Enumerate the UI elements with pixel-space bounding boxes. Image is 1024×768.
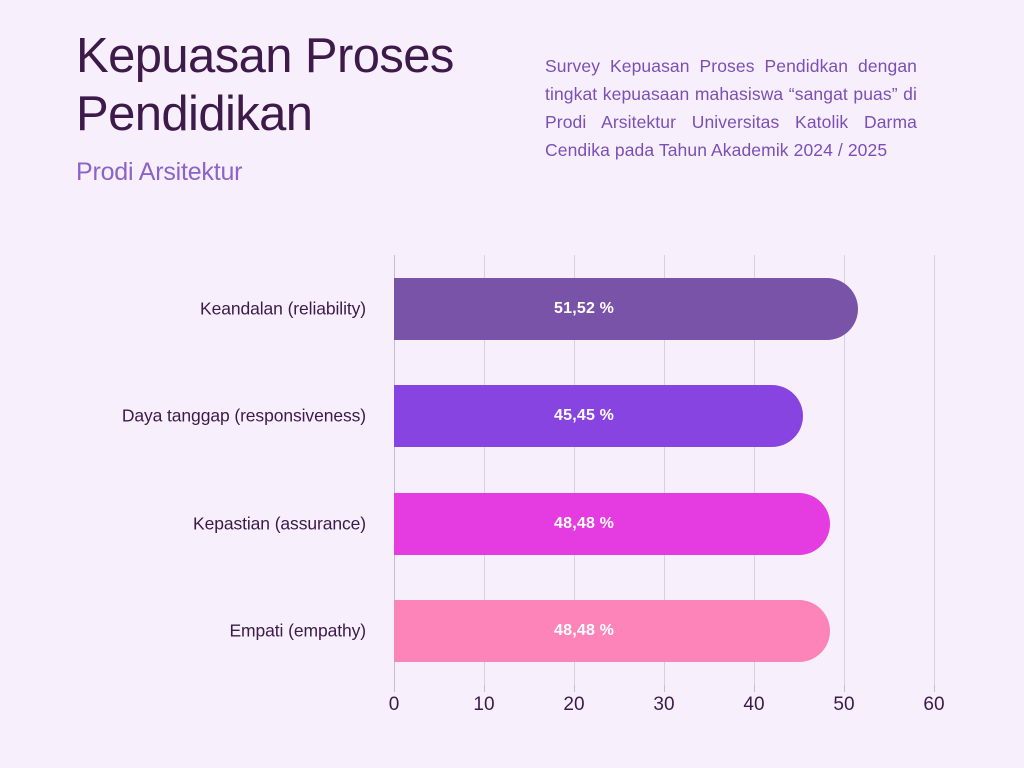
bar-value-label: 45,45 % xyxy=(554,407,614,425)
bar[interactable]: 48,48 % xyxy=(394,600,830,662)
title-block: Kepuasan Proses Pendidikan Prodi Arsitek… xyxy=(76,28,536,187)
category-label: Keandalan (reliability) xyxy=(36,298,366,319)
value-axis: 0102030405060 xyxy=(394,685,934,725)
x-tick-label: 0 xyxy=(389,694,400,716)
category-axis-labels: Keandalan (reliability)Daya tanggap (res… xyxy=(40,255,380,685)
x-tick-mark-40 xyxy=(754,685,755,692)
category-label: Kepastian (assurance) xyxy=(36,513,366,534)
bar-series: 51,52 %45,45 %48,48 %48,48 % xyxy=(394,255,934,685)
bar-chart: Keandalan (reliability)Daya tanggap (res… xyxy=(0,230,1024,768)
x-tick-mark-20 xyxy=(574,685,575,692)
plot-area: 51,52 %45,45 %48,48 %48,48 % xyxy=(394,255,934,685)
x-tick-label: 30 xyxy=(653,694,674,716)
x-tick-label: 40 xyxy=(743,694,764,716)
x-tick-mark-60 xyxy=(934,685,935,692)
x-tick-label: 10 xyxy=(473,694,494,716)
page-title: Kepuasan Proses Pendidikan xyxy=(76,28,536,144)
x-tick-mark-10 xyxy=(484,685,485,692)
x-tick-label: 20 xyxy=(563,694,584,716)
bar[interactable]: 45,45 % xyxy=(394,385,803,447)
page-subtitle: Prodi Arsitektur xyxy=(76,158,536,187)
bar-value-label: 48,48 % xyxy=(554,515,614,533)
x-tick-mark-30 xyxy=(664,685,665,692)
x-tick-label: 60 xyxy=(923,694,944,716)
category-label: Daya tanggap (responsiveness) xyxy=(36,406,366,427)
x-tick-label: 50 xyxy=(833,694,854,716)
survey-description: Survey Kepuasan Proses Pendidkan dengan … xyxy=(545,52,917,164)
header: Kepuasan Proses Pendidikan Prodi Arsitek… xyxy=(0,0,1024,230)
gridline-60 xyxy=(934,255,935,685)
category-label: Empati (empathy) xyxy=(36,621,366,642)
x-tick-mark-0 xyxy=(394,685,395,692)
bar-value-label: 51,52 % xyxy=(554,300,614,318)
description-block: Survey Kepuasan Proses Pendidkan dengan … xyxy=(545,52,917,164)
bar-value-label: 48,48 % xyxy=(554,622,614,640)
bar[interactable]: 48,48 % xyxy=(394,493,830,555)
x-tick-mark-50 xyxy=(844,685,845,692)
bar[interactable]: 51,52 % xyxy=(394,278,858,340)
